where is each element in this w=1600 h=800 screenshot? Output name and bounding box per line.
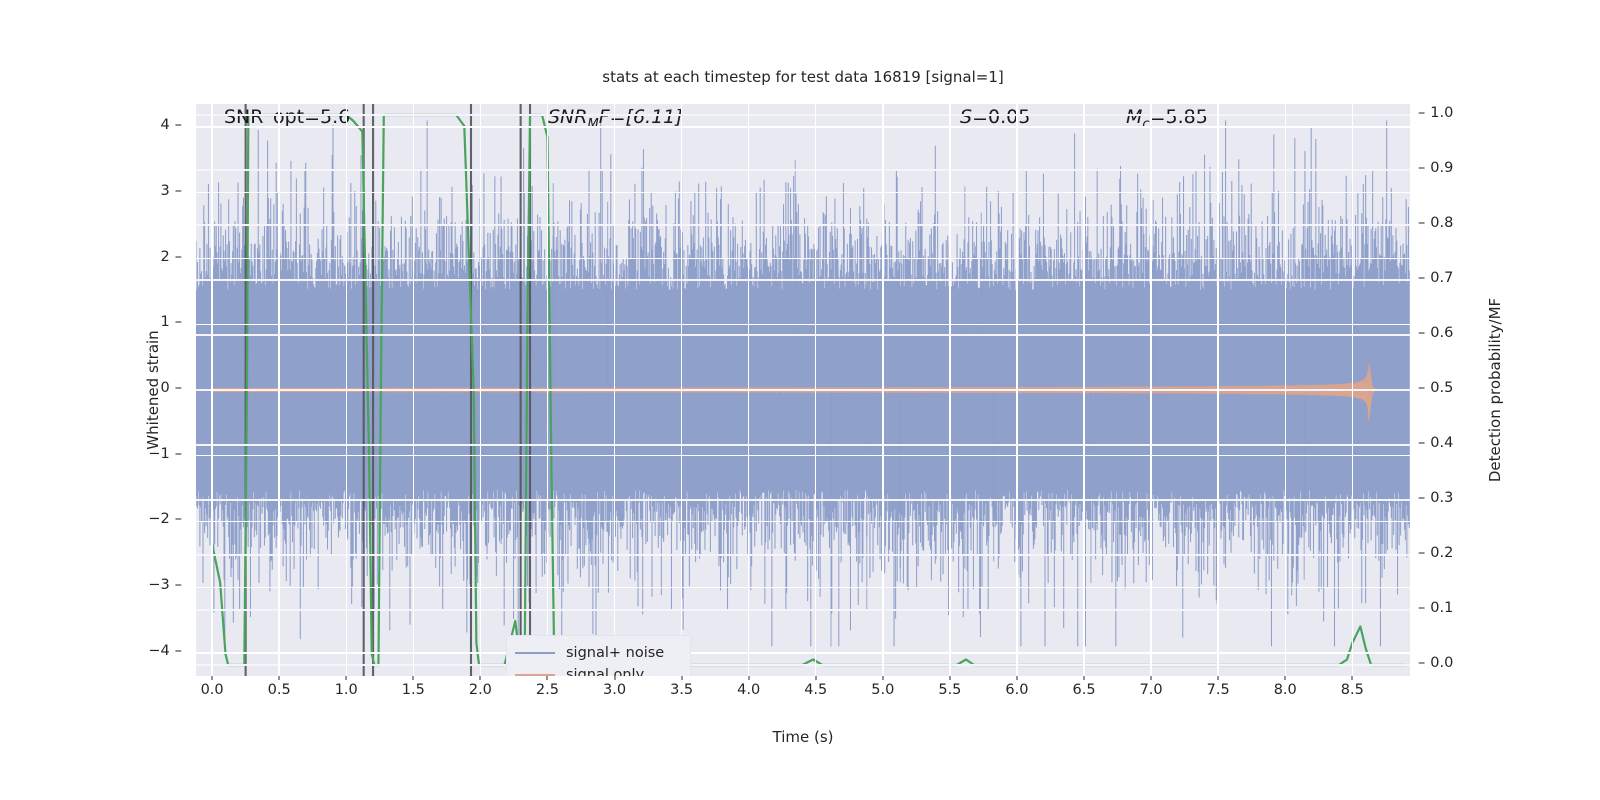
annotation-s-value: =0.05 [972,106,1030,128]
gridline-vertical [547,104,548,676]
y-tick-right-text: 0.1 [1430,600,1453,616]
y-axis-right-tick: –0.9 [1418,160,1453,176]
gridline-vertical [748,104,749,676]
y-axis-right-tick: –1.0 [1418,105,1453,121]
y-axis-left-label: Whitened strain [140,104,166,676]
x-axis-tick-mark [279,676,280,680]
y-axis-right-label: Detection probability/MF [1482,104,1508,676]
x-axis-tick: 2.0 [469,682,492,698]
annotation-snr-opt-text: SNR_opt=5.6 [224,106,350,128]
y-axis-right-tick: –0.5 [1418,380,1453,396]
x-axis-tick-mark [1016,676,1017,680]
x-axis-tick-mark [480,676,481,680]
plot-axes: SNR_opt=5.6 SNRMF=[6.11] S=0.05 Mc=5.85 … [196,104,1410,676]
gridline-vertical [1285,104,1286,676]
gridline-horizontal [196,521,1410,522]
y-tick-left-mark: – [175,183,182,199]
x-axis-label: Time (s) [196,728,1410,746]
gridline-horizontal-secondary [196,444,1410,445]
gridline-horizontal-secondary [196,389,1410,390]
y-tick-left-mark: – [175,380,182,396]
y-tick-right-text: 0.4 [1430,435,1453,451]
trace-signal-noise [196,120,1409,646]
y-tick-right-text: 0.2 [1430,545,1453,561]
gridline-vertical [346,104,347,676]
x-axis-tick: 1.0 [335,682,358,698]
legend-swatch-1 [515,674,555,676]
x-axis-tick-mark [413,676,414,680]
legend-item: signal+ noise [515,642,678,664]
x-axis-tick-mark [681,676,682,680]
y-tick-right-mark: – [1418,655,1425,671]
annotation-snr-mf-sub: M [587,117,598,132]
gridline-horizontal-secondary [196,609,1410,610]
x-axis-tick: 3.0 [603,682,626,698]
gridline-horizontal-secondary [196,334,1410,335]
x-axis-tick-mark [547,676,548,680]
x-axis-tick-mark [748,676,749,680]
y-tick-right-text: 0.3 [1430,490,1453,506]
gridline-vertical [882,104,883,676]
gridline-horizontal-secondary [196,554,1410,555]
gridline-horizontal [196,324,1410,325]
x-axis-tick: 5.5 [938,682,961,698]
gridline-horizontal-secondary [196,279,1410,280]
annotation-snr-mf-suffix: F=[6.11] [599,106,683,128]
x-axis-tick: 5.0 [871,682,894,698]
x-axis-tick: 1.5 [402,682,425,698]
x-axis-tick-mark [1352,676,1353,680]
gridline-vertical [1150,104,1151,676]
y-tick-right-mark: – [1418,545,1425,561]
annotation-s-label: S [960,106,972,128]
y-tick-right-text: 1.0 [1430,105,1453,121]
y-tick-right-text: 0.5 [1430,380,1453,396]
annotation-snr-opt: SNR_opt=5.6 [224,106,350,128]
y-tick-right-mark: – [1418,325,1425,341]
legend-item: signal only [515,664,678,676]
gridline-vertical [815,104,816,676]
y-tick-right-mark: – [1418,160,1425,176]
gridline-horizontal-secondary [196,169,1410,170]
y-tick-right-text: 0.9 [1430,160,1453,176]
annotation-mc-value: =5.85 [1150,106,1208,128]
x-axis-tick: 6.5 [1072,682,1095,698]
y-tick-right-mark: – [1418,600,1425,616]
legend-label: signal only [566,667,644,676]
gridline-horizontal [196,258,1410,259]
y-axis-right-tick: –0.8 [1418,215,1453,231]
y-tick-right-mark: – [1418,270,1425,286]
x-axis-tick: 0.5 [268,682,291,698]
y-tick-right-mark: – [1418,380,1425,396]
gridline-vertical [1083,104,1084,676]
x-axis-tick-mark [614,676,615,680]
gridline-vertical [480,104,481,676]
y-tick-left-mark: – [175,117,182,133]
gridline-horizontal [196,192,1410,193]
x-axis-tick: 4.5 [804,682,827,698]
legend-label: signal+ noise [566,645,664,661]
y-tick-right-text: 0.0 [1430,655,1453,671]
y-tick-right-mark: – [1418,105,1425,121]
y-axis-right-tick: –0.3 [1418,490,1453,506]
x-axis-tick: 0.0 [201,682,224,698]
x-axis-tick: 3.5 [670,682,693,698]
y-tick-left-mark: – [175,577,182,593]
gridline-vertical [1217,104,1218,676]
annotation-mc-label: M [1126,106,1142,128]
y-tick-right-text: 0.7 [1430,270,1453,286]
x-axis-tick: 8.5 [1341,682,1364,698]
annotation-mc-sub: c [1142,117,1149,132]
annotation-mc: Mc=5.85 [1126,106,1208,132]
gridline-vertical [211,104,212,676]
x-axis-tick-mark [1285,676,1286,680]
x-axis-tick-mark [949,676,950,680]
y-axis-right-tick: –0.7 [1418,270,1453,286]
gridline-vertical [413,104,414,676]
y-axis-right-tick: –0.6 [1418,325,1453,341]
y-tick-left-mark: – [175,446,182,462]
x-axis-tick-mark [1084,676,1085,680]
y-tick-right-mark: – [1418,215,1425,231]
x-axis-tick: 7.0 [1140,682,1163,698]
gridline-horizontal-secondary [196,664,1410,665]
figure-canvas: stats at each timestep for test data 168… [0,0,1600,800]
y-tick-left-mark: – [175,643,182,659]
y-tick-left-mark: – [175,314,182,330]
gridline-horizontal [196,652,1410,653]
y-axis-right-tick: –0.0 [1418,655,1453,671]
gridline-vertical [278,104,279,676]
gridline-horizontal [196,455,1410,456]
gridline-horizontal-secondary [196,499,1410,500]
y-tick-right-text: 0.8 [1430,215,1453,231]
y-tick-right-text: 0.6 [1430,325,1453,341]
x-axis-tick-mark [882,676,883,680]
x-axis-tick: 4.0 [737,682,760,698]
y-axis-right-tick: –0.2 [1418,545,1453,561]
x-axis-tick: 2.5 [536,682,559,698]
y-tick-right-mark: – [1418,490,1425,506]
y-tick-left-mark: – [175,511,182,527]
x-axis-tick-mark [346,676,347,680]
y-tick-left-mark: – [175,249,182,265]
annotation-snr-mf-prefix: SNR [548,106,587,128]
x-axis-tick-mark [212,676,213,680]
y-axis-right-tick: –0.4 [1418,435,1453,451]
x-axis-tick-mark [1151,676,1152,680]
legend: signal+ noisesignal onlysignal statistic… [506,635,691,676]
x-axis-tick-mark [1218,676,1219,680]
gridline-vertical [1352,104,1353,676]
y-axis-right-tick: –0.1 [1418,600,1453,616]
gridline-horizontal [196,126,1410,127]
gridline-vertical [949,104,950,676]
y-tick-right-mark: – [1418,435,1425,451]
gridline-vertical [681,104,682,676]
x-axis-tick-mark [815,676,816,680]
gridline-horizontal [196,587,1410,588]
gridline-horizontal-secondary [196,224,1410,225]
x-axis-tick: 7.5 [1207,682,1230,698]
gridline-horizontal-secondary [196,114,1410,115]
x-axis-tick: 8.0 [1274,682,1297,698]
gridline-vertical [1016,104,1017,676]
page-title: stats at each timestep for test data 168… [196,68,1410,86]
gridline-vertical [614,104,615,676]
legend-swatch-0 [515,652,555,654]
annotation-snr-mf: SNRMF=[6.11] [548,106,683,132]
x-axis-tick: 6.0 [1005,682,1028,698]
annotation-s: S=0.05 [960,106,1030,128]
